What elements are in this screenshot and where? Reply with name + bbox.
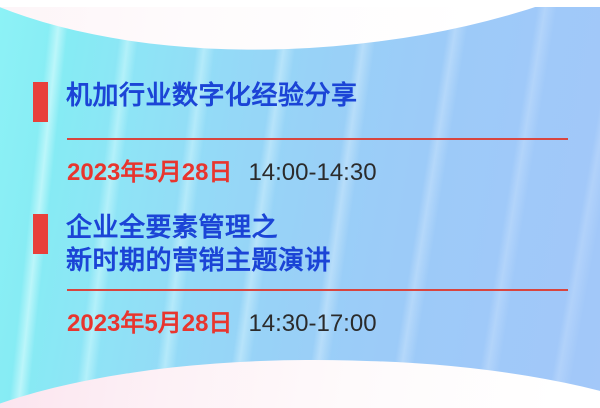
event-schedule-banner: 机加行业数字化经验分享 2023年5月28日 14:00-14:30 企业全要素…	[0, 0, 600, 408]
schedule-content: 机加行业数字化经验分享 2023年5月28日 14:00-14:30 企业全要素…	[0, 0, 600, 408]
session-2-datetime: 2023年5月28日 14:30-17:00	[67, 303, 570, 338]
session-1-title-block: 机加行业数字化经验分享	[66, 79, 570, 112]
session-1-time: 14:00-14:30	[248, 159, 376, 187]
session-2-title-line-1: 企业全要素管理之	[66, 211, 570, 244]
accent-bar-icon	[33, 82, 48, 122]
session-1-header: 机加行业数字化经验分享	[33, 79, 570, 122]
accent-bar-icon	[33, 214, 48, 254]
session-1-title-line-1: 机加行业数字化经验分享	[66, 79, 570, 112]
session-2-title-line-2: 新时期的营销主题演讲	[66, 244, 570, 277]
session-1-divider	[67, 138, 568, 140]
session-1-datetime: 2023年5月28日 14:00-14:30	[67, 152, 570, 187]
session-1-date: 2023年5月28日	[67, 152, 232, 187]
session-item-1: 机加行业数字化经验分享 2023年5月28日 14:00-14:30	[33, 79, 570, 187]
session-2-header: 企业全要素管理之 新时期的营销主题演讲	[33, 211, 570, 277]
session-2-time: 14:30-17:00	[248, 310, 376, 338]
session-2-title-block: 企业全要素管理之 新时期的营销主题演讲	[66, 211, 570, 277]
session-2-divider	[67, 289, 568, 291]
session-2-date: 2023年5月28日	[67, 303, 232, 338]
session-item-2: 企业全要素管理之 新时期的营销主题演讲 2023年5月28日 14:30-17:…	[33, 211, 570, 338]
